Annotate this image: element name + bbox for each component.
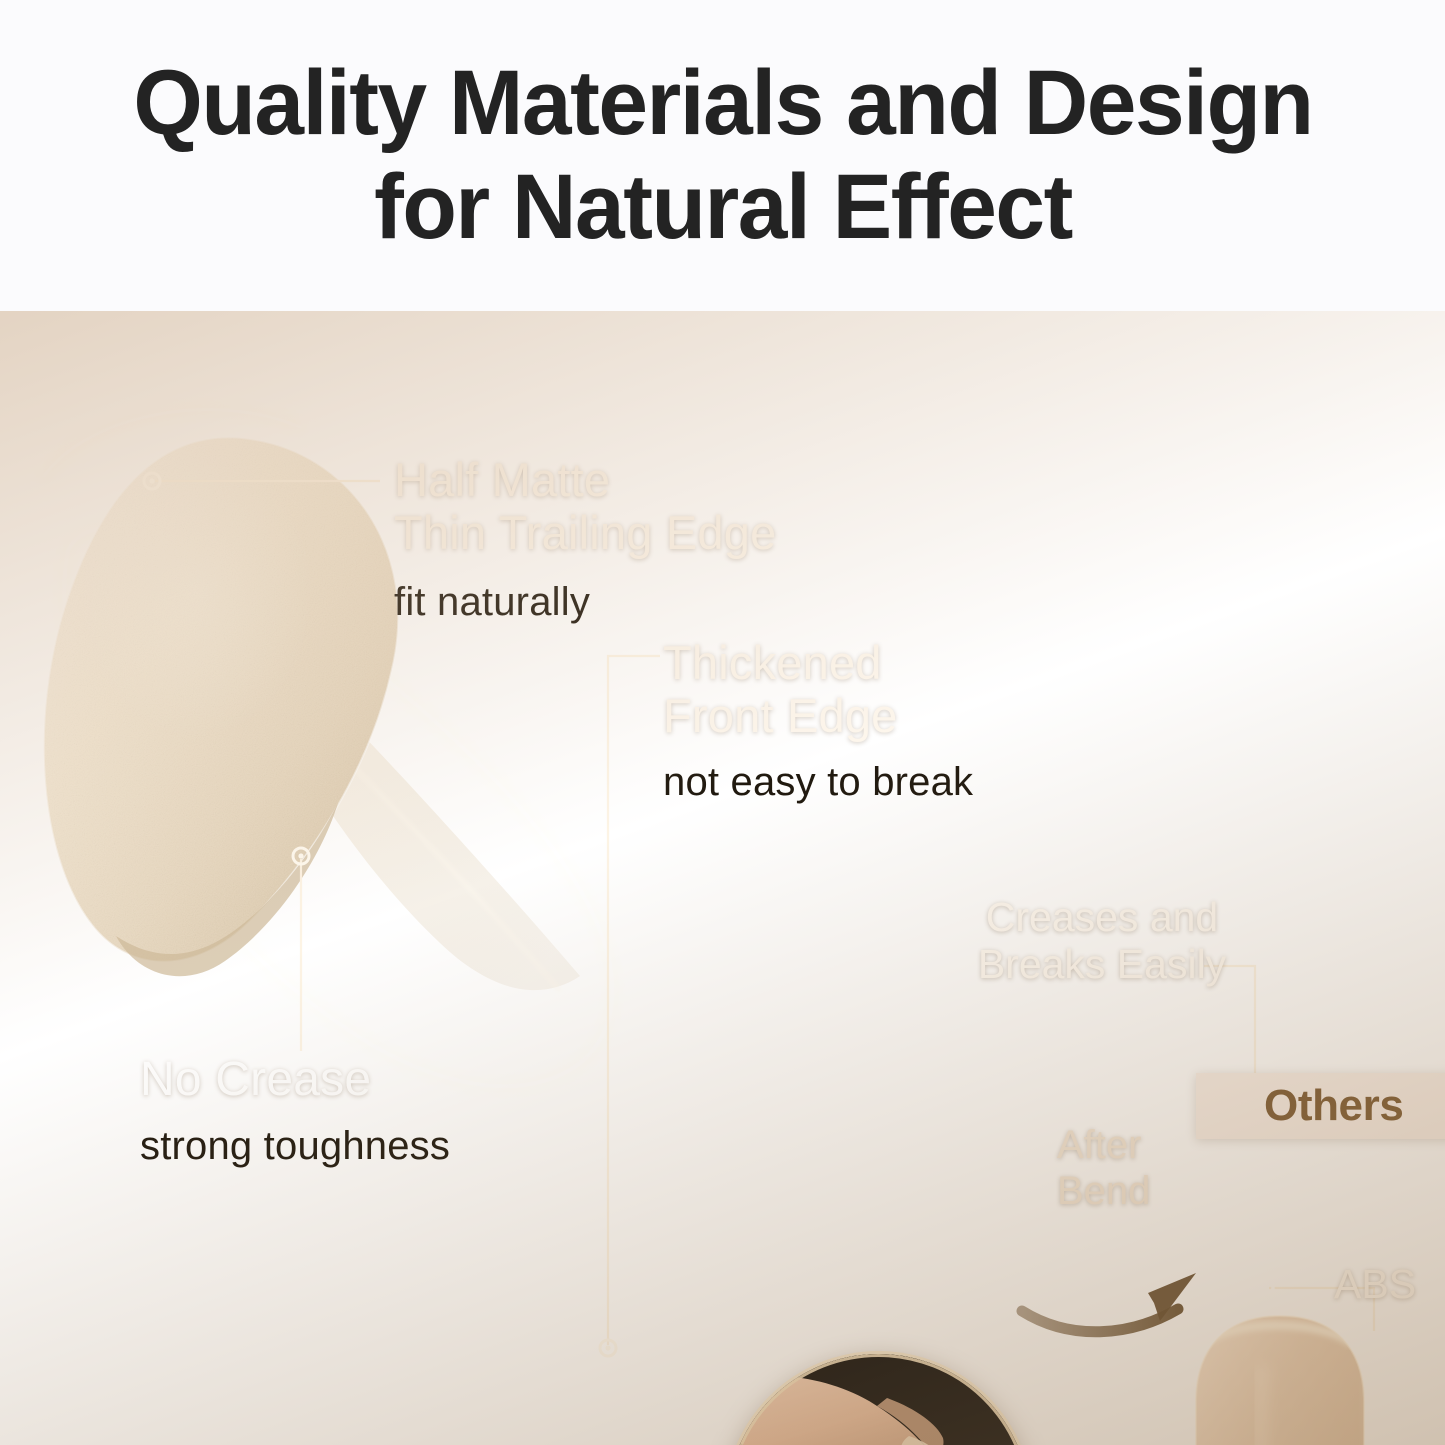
competitor-badge-label: Others (1264, 1081, 1403, 1131)
others-nail-svg (1150, 1306, 1410, 1445)
feature-label-no-crease: No Crease (140, 1053, 371, 1107)
others-nail-illustration (1150, 1306, 1410, 1445)
feature-sublabel-strong-toughness: strong toughness (140, 1123, 450, 1169)
competitor-badge-others: Others (1196, 1073, 1445, 1139)
infographic-root: Quality Materials and Design for Natural… (0, 0, 1445, 1445)
header-banner: Quality Materials and Design for Natural… (0, 0, 1445, 311)
feature-label-half-matte: Half Matte Thin Trailing Edge (394, 454, 776, 559)
bent-nail-photo-svg (727, 1354, 1030, 1445)
bent-nail-photo (727, 1354, 1030, 1445)
feature-sublabel-not-easy-to-break: not easy to break (663, 759, 973, 805)
feature-sublabel-fit-naturally: fit naturally (394, 579, 590, 625)
feature-label-creases-breaks: Creases and Breaks Easily (972, 894, 1232, 987)
comparison-panel: Half Matte Thin Trailing Edge fit natura… (0, 311, 1445, 1445)
page-title: Quality Materials and Design for Natural… (92, 52, 1353, 258)
feature-label-thickened-front-edge: Thickened Front Edge (663, 637, 898, 742)
feature-label-abs: ABS (1334, 1261, 1416, 1308)
feature-label-after-bend: After Bend (1057, 1123, 1150, 1214)
